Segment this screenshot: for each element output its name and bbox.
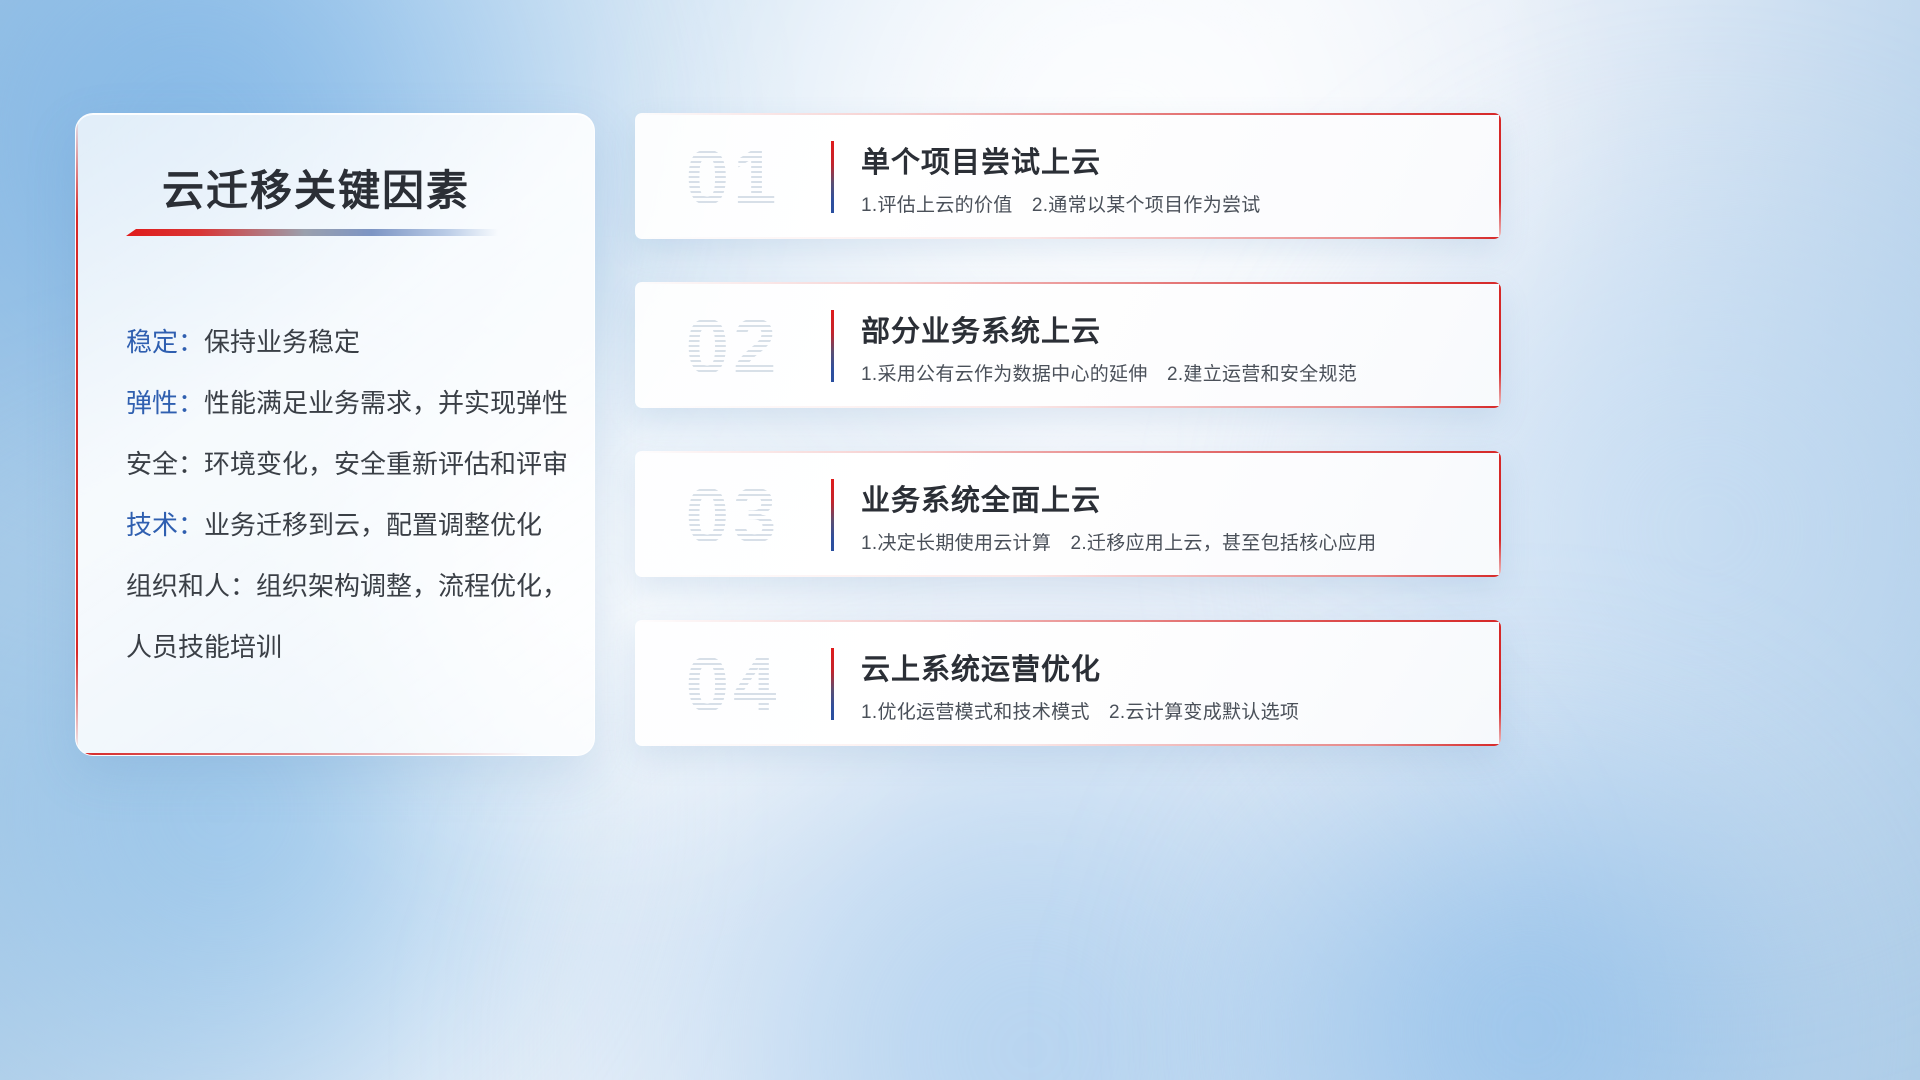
step-title: 部分业务系统上云 bbox=[861, 308, 1101, 350]
step-card-right-accent bbox=[1499, 620, 1501, 746]
factor-text: 人员技能培训 bbox=[126, 632, 282, 662]
factor-label: 技术： bbox=[126, 510, 204, 540]
step-card[interactable]: 01单个项目尝试上云1.评估上云的价值 2.通常以某个项目作为尝试 bbox=[635, 113, 1501, 239]
page-title: 云迁移关键因素 bbox=[162, 157, 470, 218]
factor-text: 性能满足业务需求，并实现弹性 bbox=[204, 388, 568, 418]
factor-text: 保持业务稳定 bbox=[204, 327, 360, 357]
step-card-right-accent bbox=[1499, 451, 1501, 577]
title-underline-gradient bbox=[126, 229, 498, 236]
step-card-right-accent bbox=[1499, 282, 1501, 408]
step-description: 1.决定长期使用云计算 2.迁移应用上云，甚至包括核心应用 bbox=[861, 528, 1376, 555]
step-number-watermark: 03 bbox=[663, 469, 803, 561]
factor-row: 稳定：保持业务稳定 bbox=[126, 312, 568, 373]
factor-row: 弹性：性能满足业务需求，并实现弹性 bbox=[126, 373, 568, 434]
factor-text: 组织架构调整，流程优化， bbox=[256, 571, 568, 601]
step-card-stack: 01单个项目尝试上云1.评估上云的价值 2.通常以某个项目作为尝试02部分业务系… bbox=[635, 113, 1501, 789]
step-divider-bar bbox=[831, 310, 834, 382]
step-title: 业务系统全面上云 bbox=[861, 477, 1101, 519]
factor-label: 组织和人： bbox=[126, 571, 256, 601]
step-divider-bar bbox=[831, 141, 834, 213]
step-card-bottom-accent bbox=[635, 237, 1501, 239]
step-card-top-accent bbox=[635, 113, 1501, 115]
step-card-top-accent bbox=[635, 282, 1501, 284]
factor-text: 环境变化，安全重新评估和评审 bbox=[204, 449, 568, 479]
step-divider-bar bbox=[831, 479, 834, 551]
card-bottom-accent-border bbox=[76, 753, 594, 755]
factor-label: 安全： bbox=[126, 449, 204, 479]
factor-row: 组织和人：组织架构调整，流程优化， bbox=[126, 556, 568, 617]
step-title: 云上系统运营优化 bbox=[861, 646, 1101, 688]
card-left-accent-border bbox=[76, 114, 78, 755]
step-card[interactable]: 03业务系统全面上云1.决定长期使用云计算 2.迁移应用上云，甚至包括核心应用 bbox=[635, 451, 1501, 577]
step-divider-bar bbox=[831, 648, 834, 720]
step-description: 1.采用公有云作为数据中心的延伸 2.建立运营和安全规范 bbox=[861, 359, 1357, 386]
step-card-top-accent bbox=[635, 620, 1501, 622]
step-card-bottom-accent bbox=[635, 575, 1501, 577]
step-number-watermark: 02 bbox=[663, 300, 803, 392]
step-card-bottom-accent bbox=[635, 744, 1501, 746]
step-number-watermark: 04 bbox=[663, 638, 803, 730]
slide-stage: 云迁移关键因素 稳定：保持业务稳定弹性：性能满足业务需求，并实现弹性安全：环境变… bbox=[0, 0, 1920, 1080]
step-card-bottom-accent bbox=[635, 406, 1501, 408]
factor-label: 弹性： bbox=[126, 388, 204, 418]
factor-text: 业务迁移到云，配置调整优化 bbox=[204, 510, 542, 540]
step-number-watermark: 01 bbox=[663, 131, 803, 223]
step-title: 单个项目尝试上云 bbox=[861, 139, 1101, 181]
step-card-right-accent bbox=[1499, 113, 1501, 239]
step-description: 1.优化运营模式和技术模式 2.云计算变成默认选项 bbox=[861, 697, 1299, 724]
factor-label: 稳定： bbox=[126, 327, 204, 357]
key-factors-card: 云迁移关键因素 稳定：保持业务稳定弹性：性能满足业务需求，并实现弹性安全：环境变… bbox=[75, 113, 595, 756]
factor-row: 人员技能培训 bbox=[126, 617, 568, 678]
factor-list: 稳定：保持业务稳定弹性：性能满足业务需求，并实现弹性安全：环境变化，安全重新评估… bbox=[126, 312, 568, 678]
step-description: 1.评估上云的价值 2.通常以某个项目作为尝试 bbox=[861, 190, 1261, 217]
step-card-top-accent bbox=[635, 451, 1501, 453]
factor-row: 技术：业务迁移到云，配置调整优化 bbox=[126, 495, 568, 556]
factor-row: 安全：环境变化，安全重新评估和评审 bbox=[126, 434, 568, 495]
step-card[interactable]: 02部分业务系统上云1.采用公有云作为数据中心的延伸 2.建立运营和安全规范 bbox=[635, 282, 1501, 408]
step-card[interactable]: 04云上系统运营优化1.优化运营模式和技术模式 2.云计算变成默认选项 bbox=[635, 620, 1501, 746]
